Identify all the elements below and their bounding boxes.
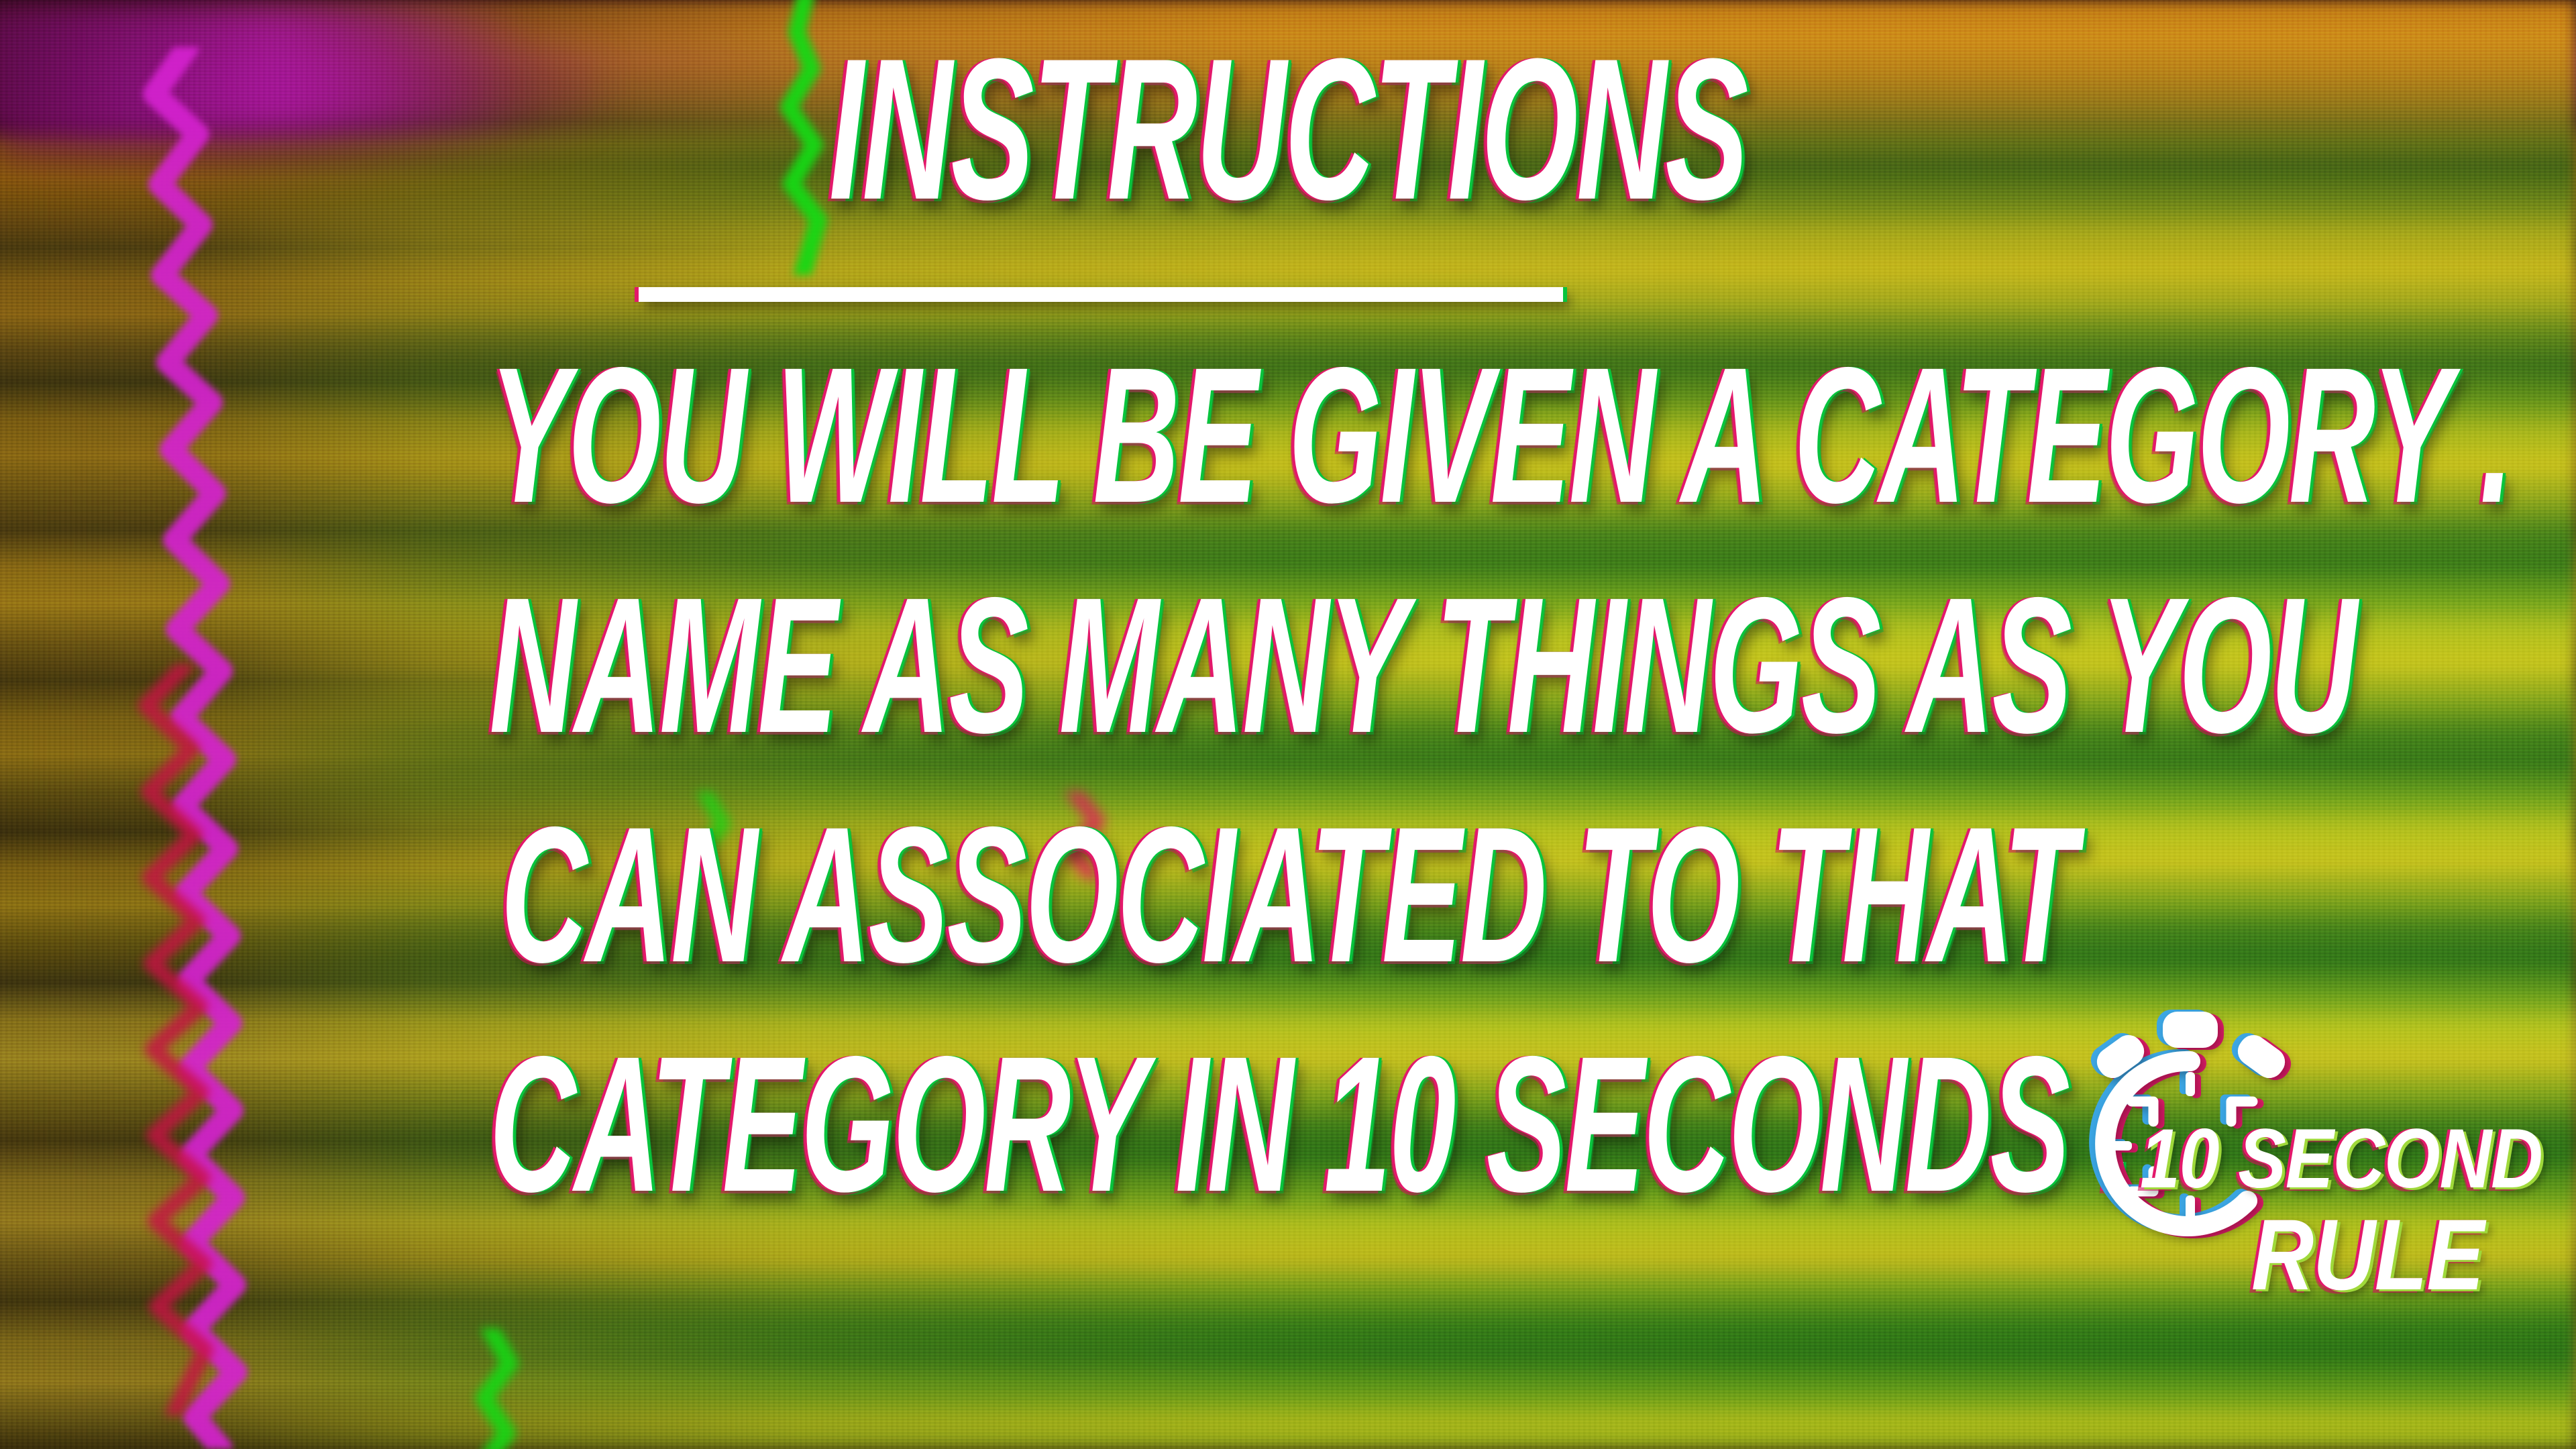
instructions-screen: INSTRUCTIONS YOU WILL BE GIVEN A CATEGOR… bbox=[0, 0, 2576, 1449]
logo-line-10-second: 10 SECOND bbox=[2140, 1111, 2542, 1207]
instruction-line-3: CAN ASSOCIATED TO THAT bbox=[490, 798, 2087, 991]
logo-line-rule: RULE bbox=[2251, 1197, 2483, 1313]
instruction-line-4: CATEGORY IN 10 SECONDS . bbox=[490, 1028, 2087, 1221]
page-title: INSTRUCTIONS bbox=[490, 28, 2087, 229]
page-title-underline bbox=[639, 287, 1563, 302]
logo-wordmark: 10 SECOND RULE bbox=[2140, 1111, 2569, 1399]
instruction-line-2: NAME AS MANY THINGS AS YOU bbox=[490, 569, 2087, 762]
ten-second-rule-logo: 10 SECOND RULE bbox=[2039, 993, 2576, 1436]
instruction-line-1: YOU WILL BE GIVEN A CATEGORY . bbox=[490, 339, 2087, 532]
